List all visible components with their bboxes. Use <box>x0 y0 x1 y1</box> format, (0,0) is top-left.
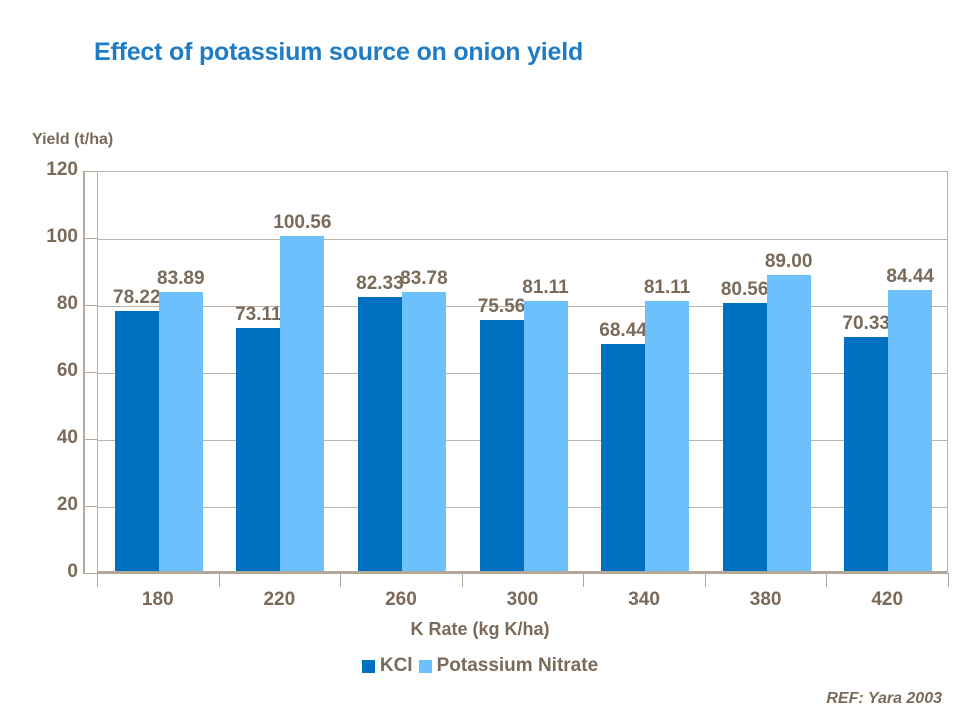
x-axis-label: 420 <box>827 589 947 611</box>
bar-value-label: 89.00 <box>744 251 834 273</box>
bar-kcl-180[interactable] <box>115 311 159 573</box>
x-axis-tick <box>826 573 827 587</box>
legend-swatch-icon <box>419 660 432 673</box>
y-axis-tick <box>83 439 97 440</box>
bar-value-label: 83.78 <box>379 268 469 290</box>
bar-potassium-nitrate-340[interactable] <box>645 301 689 573</box>
x-axis-label: 300 <box>463 589 583 611</box>
bar-potassium-nitrate-300[interactable] <box>524 301 568 573</box>
y-axis-tick <box>83 305 97 306</box>
bar-value-label: 81.11 <box>622 277 712 299</box>
y-axis-label: 0 <box>20 561 78 583</box>
x-axis-label: 260 <box>341 589 461 611</box>
gridline <box>98 239 947 240</box>
bar-potassium-nitrate-260[interactable] <box>402 292 446 573</box>
x-axis-line <box>97 571 948 574</box>
y-axis-label: 120 <box>20 159 78 181</box>
bar-kcl-380[interactable] <box>723 303 767 573</box>
legend-label: KCl <box>380 655 413 677</box>
page-title: Effect of potassium source on onion yiel… <box>94 38 583 67</box>
y-axis-labels: 020406080100120 <box>0 0 78 720</box>
reference-note: REF: Yara 2003 <box>826 690 942 708</box>
x-axis-tick <box>583 573 584 587</box>
bar-potassium-nitrate-180[interactable] <box>159 292 203 573</box>
x-axis-tick <box>219 573 220 587</box>
bar-potassium-nitrate-420[interactable] <box>888 290 932 573</box>
bar-potassium-nitrate-380[interactable] <box>767 275 811 573</box>
x-axis-title: K Rate (kg K/ha) <box>0 619 960 640</box>
y-axis-tick <box>83 506 97 507</box>
y-axis-label: 20 <box>20 494 78 516</box>
bar-value-label: 81.11 <box>501 277 591 299</box>
x-axis-label: 340 <box>584 589 704 611</box>
legend-swatch-icon <box>362 660 375 673</box>
legend-item-potassium-nitrate[interactable]: Potassium Nitrate <box>419 655 599 677</box>
legend-label: Potassium Nitrate <box>437 655 599 677</box>
x-axis-label: 220 <box>219 589 339 611</box>
y-axis-label: 100 <box>20 226 78 248</box>
bar-kcl-300[interactable] <box>480 320 524 573</box>
x-axis-tick <box>340 573 341 587</box>
bar-kcl-420[interactable] <box>844 337 888 573</box>
x-axis-tick <box>462 573 463 587</box>
y-axis-label: 60 <box>20 360 78 382</box>
y-axis-tick <box>83 238 97 239</box>
y-axis-label: 40 <box>20 427 78 449</box>
plot-area: 78.2283.8973.11100.5682.3383.7875.5681.1… <box>97 171 948 573</box>
bar-value-label: 100.56 <box>257 212 347 234</box>
chart-legend: KClPotassium Nitrate <box>0 655 960 677</box>
x-axis-label: 180 <box>98 589 218 611</box>
bar-value-label: 83.89 <box>136 268 226 290</box>
x-axis-tick <box>97 573 98 587</box>
legend-item-kcl[interactable]: KCl <box>362 655 413 677</box>
x-axis-label: 380 <box>706 589 826 611</box>
y-axis-tick <box>83 573 97 574</box>
x-axis-tick <box>948 573 949 587</box>
bar-kcl-340[interactable] <box>601 344 645 573</box>
bar-kcl-220[interactable] <box>236 328 280 573</box>
y-axis-label: 80 <box>20 293 78 315</box>
y-axis-tick <box>83 372 97 373</box>
bar-kcl-260[interactable] <box>358 297 402 573</box>
y-axis-tick <box>83 171 97 172</box>
x-axis-tick <box>705 573 706 587</box>
bar-potassium-nitrate-220[interactable] <box>280 236 324 573</box>
bar-value-label: 84.44 <box>865 266 955 288</box>
